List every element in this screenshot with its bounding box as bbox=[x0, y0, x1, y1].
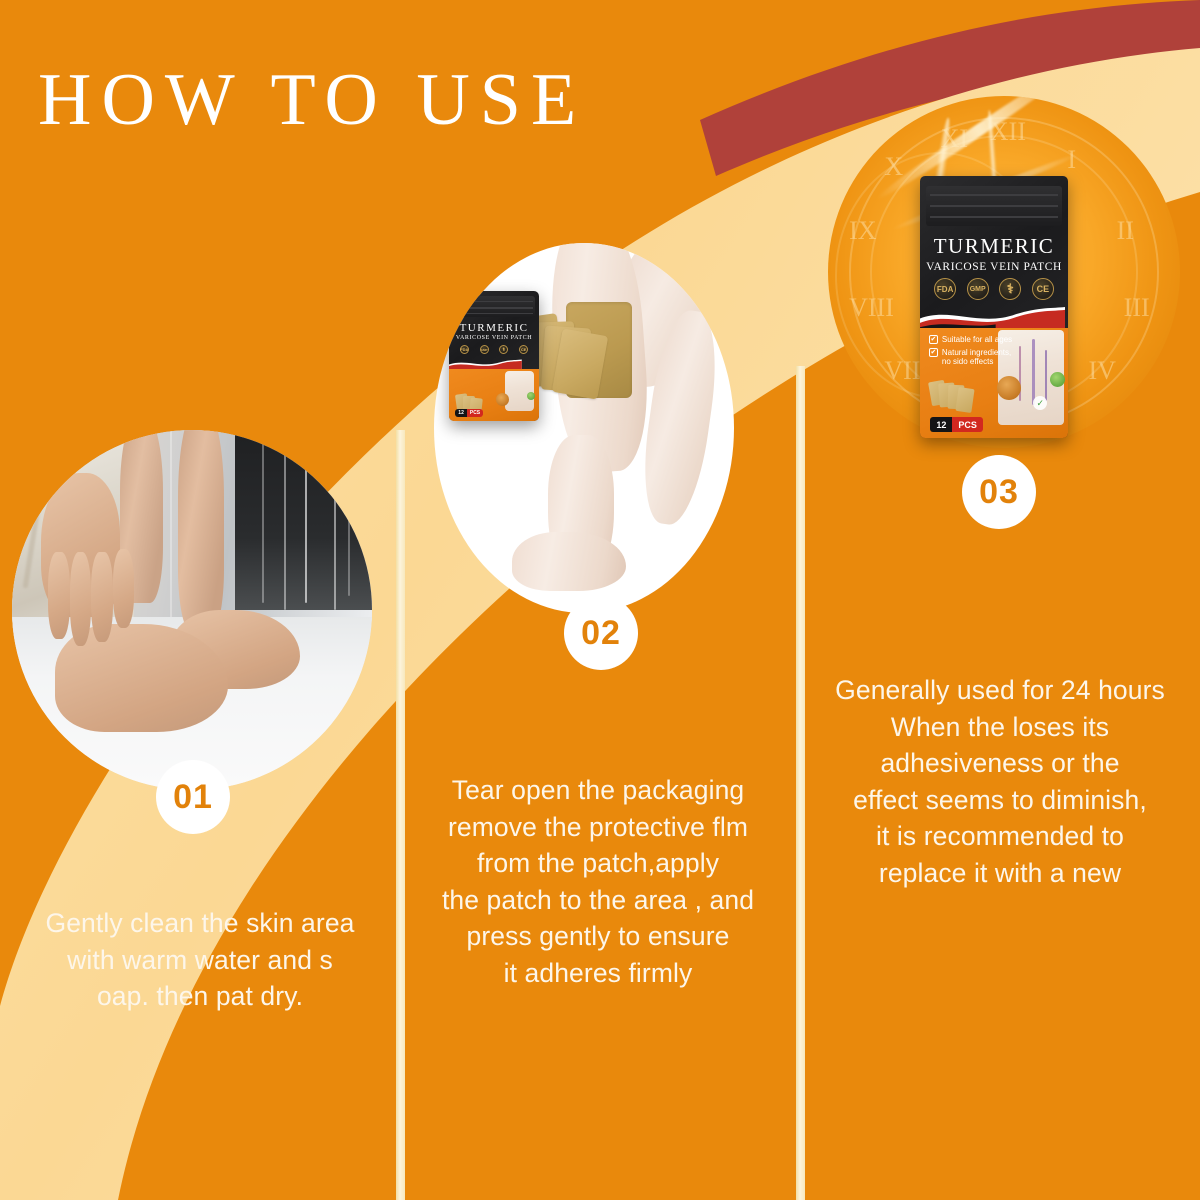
seal-caduceus: ⚕ bbox=[999, 278, 1021, 300]
product-subtitle: VARICOSE VEIN PATCH bbox=[920, 261, 1068, 273]
how-to-use-infographic: HOW TO USE bbox=[0, 0, 1200, 1200]
step-3-caption: Generally used for 24 hours When the los… bbox=[804, 672, 1196, 891]
pcs-badge: 12 PCS bbox=[930, 417, 983, 432]
pcs-unit: PCS bbox=[952, 417, 983, 432]
pcs-number: 12 bbox=[930, 417, 952, 432]
step-1-photo-circle bbox=[12, 430, 372, 790]
bullet-1: Suitable for all ages bbox=[942, 335, 1012, 344]
product-pouch-large: TURMERIC VARICOSE VEIN PATCH FDA GMP ⚕ C… bbox=[920, 176, 1068, 438]
pcs-unit-small: PCS bbox=[467, 409, 483, 417]
herb-leaf-image bbox=[1050, 372, 1065, 387]
product-pouch-small: TURMERIC VARICOSE VEIN PATCH FDA GMP ⚕ C… bbox=[449, 291, 539, 421]
legs-with-patch-photo: TURMERIC VARICOSE VEIN PATCH FDA GMP ⚕ C… bbox=[434, 243, 734, 613]
step-2-caption: Tear open the packaging remove the prote… bbox=[404, 772, 792, 991]
pcs-number-small: 12 bbox=[455, 409, 467, 417]
product-subtitle-small: VARICOSE VEIN PATCH bbox=[449, 335, 539, 341]
seal-ce: CE bbox=[1032, 278, 1054, 300]
step-1-caption: Gently clean the skin area with warm wat… bbox=[8, 905, 392, 1015]
seal-gmp: GMP bbox=[967, 278, 989, 300]
step-3-number-badge: 03 bbox=[962, 455, 1036, 529]
seal-fda: FDA bbox=[934, 278, 956, 300]
step-1-number-badge: 01 bbox=[156, 760, 230, 834]
page-title: HOW TO USE bbox=[38, 58, 586, 143]
bullet-2: Natural ingredients, no sido effects bbox=[942, 348, 1011, 367]
product-name-small: TURMERIC bbox=[449, 322, 539, 334]
step-2-number-badge: 02 bbox=[564, 596, 638, 670]
package-wave-graphic bbox=[920, 304, 1065, 330]
product-name: TURMERIC bbox=[920, 234, 1068, 259]
checkbox-icon: ✔ bbox=[929, 335, 938, 344]
step-2-photo-circle: TURMERIC VARICOSE VEIN PATCH FDA GMP ⚕ C… bbox=[434, 243, 734, 613]
checkbox-icon: ✔ bbox=[929, 348, 938, 357]
shower-feet-photo bbox=[12, 430, 372, 790]
